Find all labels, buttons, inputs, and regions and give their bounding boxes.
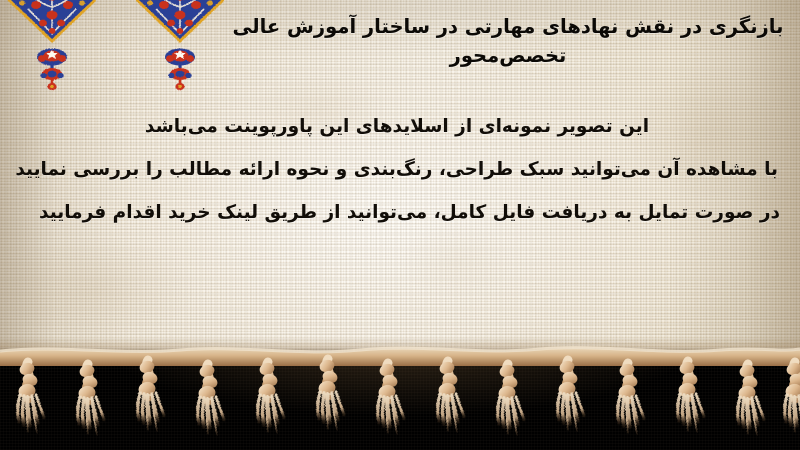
tassel (737, 363, 764, 435)
tassel (77, 363, 104, 435)
tassel (557, 359, 584, 431)
tassel (617, 362, 644, 434)
carpet-tassel-fringe (0, 340, 800, 450)
persian-medallion-ornament-right (136, 0, 224, 90)
tassel-row (17, 358, 800, 435)
tassel (497, 363, 524, 435)
tassel (197, 363, 224, 435)
tassel (257, 361, 284, 433)
slide-title-line-1: بازنگری در نقش نهادهای مهارتی در ساختار … (230, 12, 786, 41)
persian-medallion-ornament-left (8, 0, 96, 90)
slide-title: بازنگری در نقش نهادهای مهارتی در ساختار … (230, 12, 786, 70)
tassel (784, 361, 800, 433)
slide-body-line-2: با مشاهده آن می‌توانید سبک طراحی، رنگ‌بن… (40, 148, 780, 191)
slide-body-line-3: در صورت تمایل به دریافت فایل کامل، می‌تو… (40, 191, 780, 234)
slide-title-line-2: تخصص‌محور (230, 41, 786, 70)
tassel (437, 360, 464, 432)
slide-canvas: بازنگری در نقش نهادهای مهارتی در ساختار … (0, 0, 800, 450)
slide-body-line-1: این تصویر نمونه‌ای از اسلایدهای این پاور… (40, 105, 780, 148)
tassel (317, 358, 344, 430)
tassel (677, 360, 704, 432)
tassel (17, 361, 44, 433)
slide-body: این تصویر نمونه‌ای از اسلایدهای این پاور… (40, 105, 780, 234)
tassel (137, 359, 164, 431)
tassel (377, 362, 404, 434)
